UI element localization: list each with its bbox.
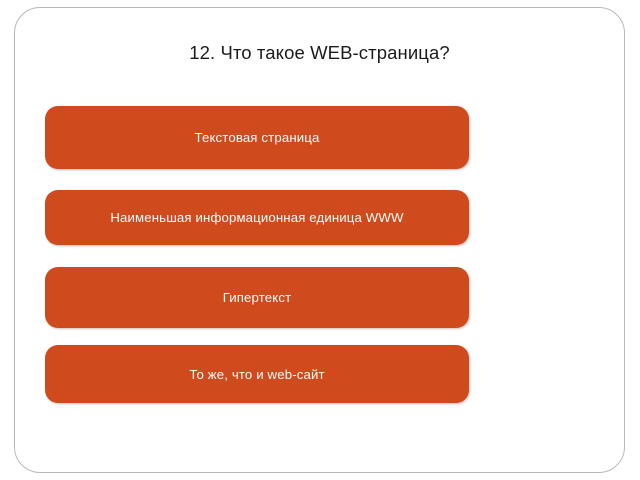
answer-option-1-label: Текстовая страница: [185, 130, 330, 145]
answer-option-4-label: То же, что и web-сайт: [179, 367, 334, 382]
answer-option-1[interactable]: Текстовая страница: [45, 106, 469, 169]
answer-options-list: Текстовая страница Наименьшая информацио…: [15, 8, 624, 472]
slide-frame: 12. Что такое WEB-страница? Текстовая ст…: [14, 7, 625, 473]
answer-option-3[interactable]: Гипертекст: [45, 267, 469, 328]
answer-option-3-label: Гипертекст: [213, 290, 302, 305]
answer-option-4[interactable]: То же, что и web-сайт: [45, 345, 469, 403]
answer-option-2[interactable]: Наименьшая информационная единица WWW: [45, 190, 469, 245]
answer-option-2-label: Наименьшая информационная единица WWW: [100, 210, 413, 225]
